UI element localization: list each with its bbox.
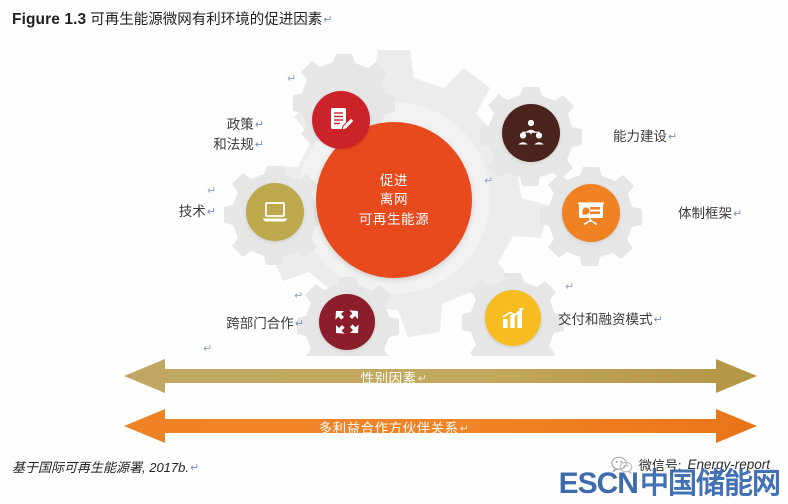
- escn-watermark-cn: 中国储能网: [640, 460, 780, 502]
- label-policy-line-2: 和法规: [213, 137, 254, 152]
- paragraph-mark-icon: ↵: [295, 318, 304, 330]
- paragraph-mark-icon: ↵: [323, 14, 332, 26]
- gender-arrow-shape: [0, 352, 788, 400]
- paragraph-mark-icon: ↵: [190, 462, 199, 474]
- gear-diagram: 促进 离网 可再生能源 政策↵ 和法规↵: [0, 36, 788, 356]
- bar-chart-growth-icon: [498, 303, 528, 333]
- label-institutional-text: 体制框架: [678, 206, 732, 221]
- presentation-board-icon: [574, 196, 608, 230]
- label-delivery-financing-models: 交付和融资模式↵: [558, 310, 663, 330]
- source-note: 基于国际可再生能源署, 2017b.↵: [12, 457, 199, 476]
- source-text: 基于国际可再生能源署, 2017b.: [12, 460, 189, 475]
- label-capacity-building: 能力建设↵: [613, 127, 677, 147]
- escn-watermark-en: ESCN: [559, 467, 638, 501]
- label-institutional-framework: 体制框架↵: [678, 204, 742, 224]
- org-chart-people-icon: [515, 117, 547, 149]
- arrow-multi-stakeholder-partnership[interactable]: 多利益合作方伙伴关系↵: [0, 402, 788, 450]
- paragraph-mark-icon: ↵: [294, 291, 303, 302]
- paragraph-mark-icon: ↵: [287, 74, 296, 85]
- paragraph-mark-icon: ↵: [733, 208, 742, 220]
- page-title: Figure 1.3可再生能源微网有利环境的促进因素↵: [12, 8, 332, 29]
- label-policy-line-1: 政策: [227, 117, 254, 132]
- label-cross-sector-cooperation: 跨部门合作↵: [208, 314, 304, 334]
- escn-watermark: ESCN 中国储能网: [559, 460, 780, 502]
- hub-line-3: 可再生能源: [359, 210, 430, 229]
- laptop-icon: [259, 196, 291, 228]
- label-capacity-text: 能力建设: [613, 129, 667, 144]
- arrow-gender-factors[interactable]: 性别因素↵: [0, 352, 788, 400]
- paragraph-mark-icon: ↵: [668, 131, 677, 143]
- paragraph-mark-icon: ↵: [484, 176, 493, 187]
- paragraph-mark-icon: ↵: [255, 139, 264, 151]
- figure-number: Figure 1.3: [12, 11, 86, 28]
- node-cross-sector-cooperation[interactable]: [319, 294, 375, 350]
- node-technology[interactable]: [246, 183, 304, 241]
- four-arrows-expand-icon: [332, 307, 362, 337]
- figure-caption: 可再生能源微网有利环境的促进因素: [90, 12, 322, 28]
- arrow-bars: 性别因素↵ 多利益合作方伙伴关系↵: [0, 350, 788, 455]
- hub-line-1: 促进: [380, 171, 408, 190]
- paragraph-mark-icon: ↵: [207, 186, 216, 197]
- node-policy-regulation[interactable]: [312, 91, 370, 149]
- figure-page: Figure 1.3可再生能源微网有利环境的促进因素↵: [0, 0, 788, 504]
- document-pen-icon: [325, 104, 357, 136]
- label-technology: 技术↵: [150, 202, 216, 222]
- node-capacity-building[interactable]: [502, 104, 560, 162]
- label-policy-regulation: 政策↵ 和法规↵: [188, 115, 264, 154]
- label-delivery-text: 交付和融资模式: [558, 312, 653, 327]
- label-cross-sector-text: 跨部门合作: [226, 316, 294, 331]
- paragraph-mark-icon: ↵: [565, 282, 574, 293]
- partnership-arrow-shape: [0, 402, 788, 450]
- paragraph-mark-icon: ↵: [255, 119, 264, 131]
- node-delivery-financing-models[interactable]: [485, 290, 541, 346]
- paragraph-mark-icon: ↵: [207, 206, 216, 218]
- node-institutional-framework[interactable]: [562, 184, 620, 242]
- paragraph-mark-icon: ↵: [654, 314, 663, 326]
- label-technology-text: 技术: [179, 204, 206, 219]
- hub-line-2: 离网: [380, 190, 408, 209]
